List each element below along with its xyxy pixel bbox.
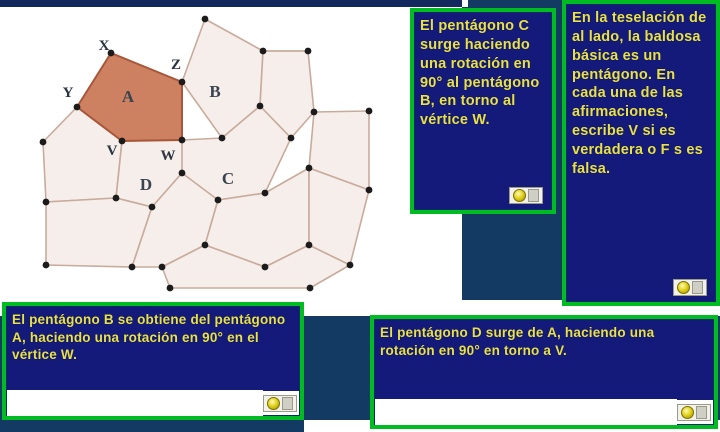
top-divider-bar (0, 0, 468, 7)
vertex-label-V: V (107, 143, 118, 159)
statement-b-callout: El pentágono B se obtiene del pentágono … (2, 302, 304, 420)
statement-c-body: El pentágono C surge haciendo una rotaci… (414, 12, 552, 210)
tessellation-diagram: A B C D X Z Y V W (0, 7, 462, 310)
statement-c-text: El pentágono C surge haciendo una rotaci… (415, 13, 551, 130)
panel-top-right-filler (462, 0, 468, 7)
statement-d-text: El pentágono D surge de A, haciendo una … (375, 320, 713, 359)
statement-c-callout: El pentágono C surge haciendo una rotaci… (410, 8, 556, 214)
instructions-text: En la teselación de al lado, la baldosa … (567, 5, 715, 179)
pip-icon (282, 397, 293, 410)
pip-icon (528, 189, 539, 202)
check-answer-icon[interactable] (677, 404, 711, 421)
statement-d-callout: El pentágono D surge de A, haciendo una … (370, 315, 718, 429)
statement-d-answer-input[interactable] (375, 399, 677, 425)
instructions-callout: En la teselación de al lado, la baldosa … (562, 0, 720, 306)
check-answer-icon[interactable] (509, 187, 543, 204)
pentagon-label-A: A (122, 87, 135, 106)
gem-icon (267, 397, 280, 410)
statement-d-body: El pentágono D surge de A, haciendo una … (374, 319, 714, 425)
vertex-label-Z: Z (171, 57, 181, 73)
statement-b-answer-row[interactable] (7, 391, 299, 415)
gem-icon (681, 406, 694, 419)
pentagon-label-D: D (140, 175, 152, 194)
statement-d-answer-row[interactable] (375, 400, 713, 424)
vertex-label-W: W (161, 148, 176, 164)
pentagon-label-C: C (222, 169, 234, 188)
pip-icon (696, 406, 707, 419)
pentagon-label-B: B (209, 82, 220, 101)
app-stage: A B C D X Z Y V W El pentágono C surge h… (0, 0, 720, 432)
vertex-label-X: X (99, 38, 110, 54)
gem-icon (513, 189, 526, 202)
instructions-body: En la teselación de al lado, la baldosa … (566, 4, 716, 302)
pip-icon (692, 281, 703, 294)
check-answer-icon[interactable] (673, 279, 707, 296)
vertex-label-Y: Y (63, 85, 74, 101)
statement-b-answer-input[interactable] (7, 390, 263, 416)
gem-icon (677, 281, 690, 294)
check-answer-icon[interactable] (263, 395, 297, 412)
statement-b-body: El pentágono B se obtiene del pentágono … (6, 306, 300, 416)
statement-b-text: El pentágono B se obtiene del pentágono … (7, 307, 299, 364)
